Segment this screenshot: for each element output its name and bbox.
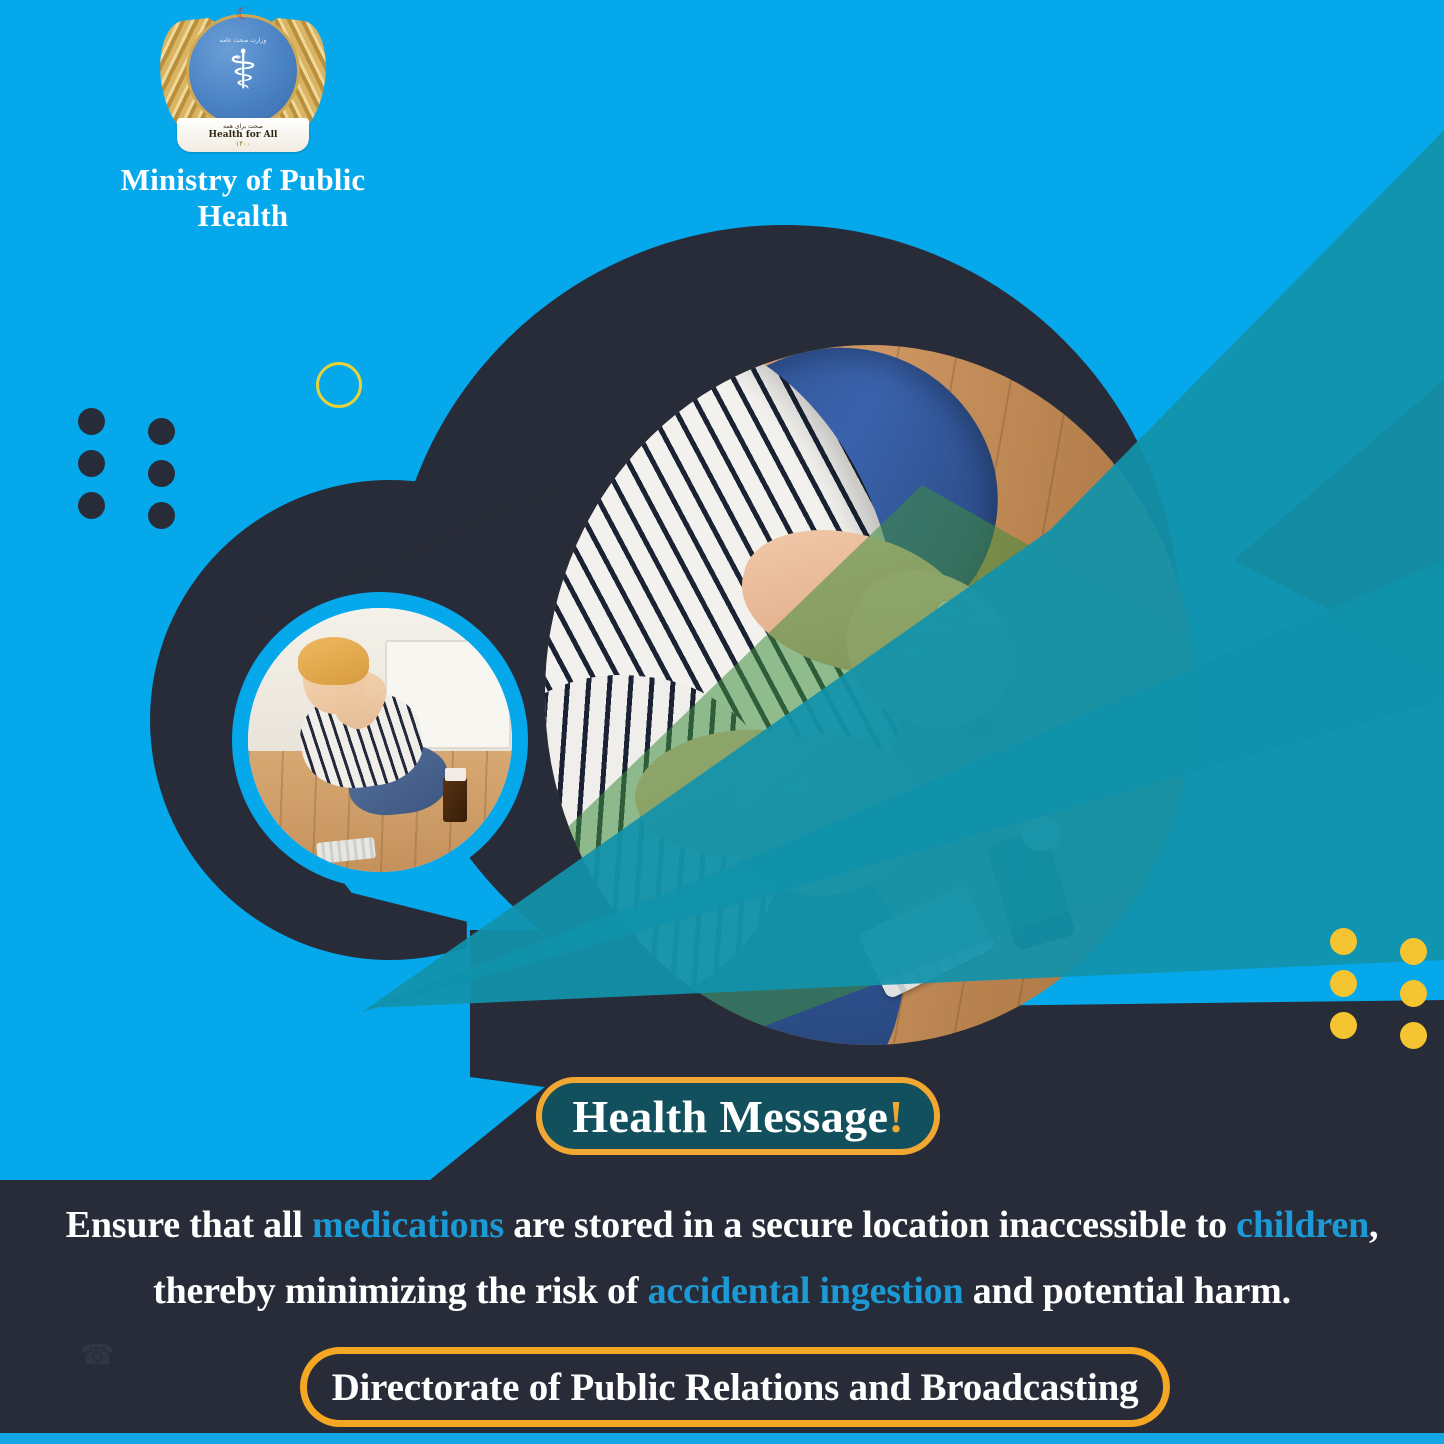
message-highlight: children — [1236, 1204, 1369, 1246]
dot — [1400, 1022, 1427, 1049]
dot — [1330, 970, 1357, 997]
motto-english: Health for All — [209, 130, 278, 140]
main-photo — [545, 345, 1195, 1045]
health-awareness-poster: وزارت صحت عامه ⚕ ☾ صحت برای همه Health f… — [0, 0, 1444, 1444]
message-line-1: Ensure that all medications are stored i… — [0, 1192, 1444, 1258]
phone-icon: ☎ — [80, 1338, 114, 1372]
health-message-text: Ensure that all medications are stored i… — [0, 1192, 1444, 1324]
emblem-year: ۱۴۰۰ — [235, 140, 250, 148]
message-plain: are stored in a secure location inaccess… — [504, 1204, 1236, 1246]
dot — [78, 450, 105, 477]
message-plain: Ensure that all — [66, 1204, 312, 1246]
message-plain: thereby minimizing the risk of — [153, 1270, 647, 1312]
message-line-2: thereby minimizing the risk of accidenta… — [0, 1258, 1444, 1324]
dot — [78, 492, 105, 519]
dot — [1330, 928, 1357, 955]
dot — [1400, 980, 1427, 1007]
emblem-circle: وزارت صحت عامه ⚕ — [186, 14, 300, 128]
message-plain: , — [1369, 1204, 1378, 1246]
health-message-exclamation: ! — [888, 1090, 903, 1143]
inset-photo — [248, 608, 512, 872]
directorate-label: Directorate of Public Relations and Broa… — [332, 1365, 1139, 1410]
motto-arabic: صحت برای همه — [223, 123, 263, 130]
toddler-hair — [298, 637, 369, 685]
message-highlight: medications — [312, 1204, 504, 1246]
dot — [148, 418, 175, 445]
message-highlight: accidental ingestion — [648, 1270, 964, 1312]
health-message-badge: Health Message! — [536, 1077, 940, 1155]
bottom-accent-strip — [0, 1433, 1444, 1444]
ministry-emblem-icon: وزارت صحت عامه ⚕ ☾ صحت برای همه Health f… — [153, 6, 333, 156]
yellow-dot-cluster — [1330, 920, 1422, 1046]
dot — [78, 408, 105, 435]
health-message-label: Health Message — [572, 1090, 888, 1143]
dot — [148, 502, 175, 529]
emblem-motto-banner: صحت برای همه Health for All ۱۴۰۰ — [177, 118, 309, 152]
rod-of-asclepius-icon: ⚕ — [228, 43, 257, 97]
inset-medicine-bottle-cap — [445, 768, 466, 781]
dot — [1330, 1012, 1357, 1039]
dot — [1400, 938, 1427, 965]
inset-medicine-bottle — [443, 777, 467, 822]
directorate-badge: Directorate of Public Relations and Broa… — [300, 1347, 1170, 1427]
dark-dot-cluster — [78, 400, 170, 526]
ministry-logo: وزارت صحت عامه ⚕ ☾ صحت برای همه Health f… — [78, 6, 408, 234]
message-plain: and potential harm. — [963, 1270, 1290, 1312]
organization-name: Ministry of Public Health — [78, 162, 408, 234]
dot — [148, 460, 175, 487]
yellow-ring-decoration — [316, 362, 362, 408]
crescent-icon: ☾ — [236, 6, 250, 22]
